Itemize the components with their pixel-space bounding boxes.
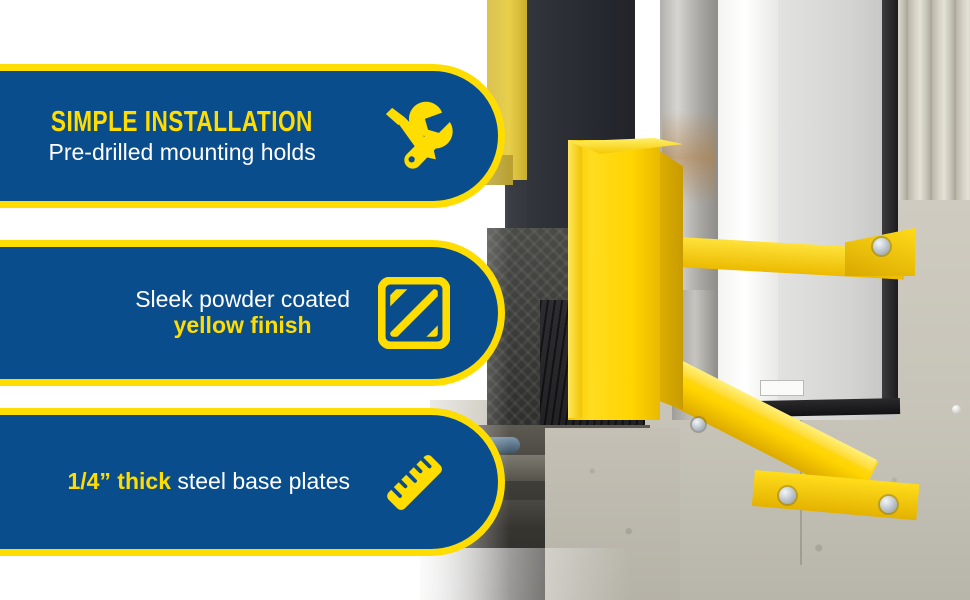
door-trim-right — [882, 0, 898, 405]
guard-post-lip — [568, 140, 582, 418]
feature-text-block: Sleek powder coated yellow finish — [135, 287, 350, 339]
feature-rest: steel base plates — [171, 468, 350, 494]
door-panel-white — [718, 0, 778, 430]
door-panel-grey — [778, 0, 896, 420]
feature-banner-simple-installation[interactable]: SIMPLE INSTALLATION Pre-drilled mounting… — [0, 64, 505, 208]
feature-line-1: Sleek powder coated — [135, 287, 350, 313]
door-label — [760, 380, 804, 396]
mounting-bolt — [779, 487, 796, 504]
feature-text-block: 1/4” thick steel base plates — [67, 469, 350, 495]
feature-title: SIMPLE INSTALLATION — [51, 106, 313, 138]
feature-text-block: SIMPLE INSTALLATION Pre-drilled mounting… — [14, 106, 350, 166]
feature-subtitle: Pre-drilled mounting holds — [14, 140, 350, 166]
ruler-icon — [372, 440, 456, 524]
wall-screw — [952, 405, 961, 414]
mounting-bolt — [873, 238, 890, 255]
product-feature-banner: SIMPLE INSTALLATION Pre-drilled mounting… — [0, 0, 970, 600]
feature-banner-powder-coat-finish[interactable]: Sleek powder coated yellow finish — [0, 240, 505, 386]
feature-line-2: yellow finish — [135, 313, 350, 339]
screwdriver-wrench-icon — [372, 94, 456, 178]
hatched-square-icon — [372, 271, 456, 355]
feature-emphasis: 1/4” thick — [67, 468, 171, 494]
feature-line-1: 1/4” thick steel base plates — [67, 469, 350, 495]
mounting-bolt — [692, 418, 705, 431]
mounting-bolt — [880, 496, 897, 513]
feature-banner-steel-base-plates[interactable]: 1/4” thick steel base plates — [0, 408, 505, 556]
